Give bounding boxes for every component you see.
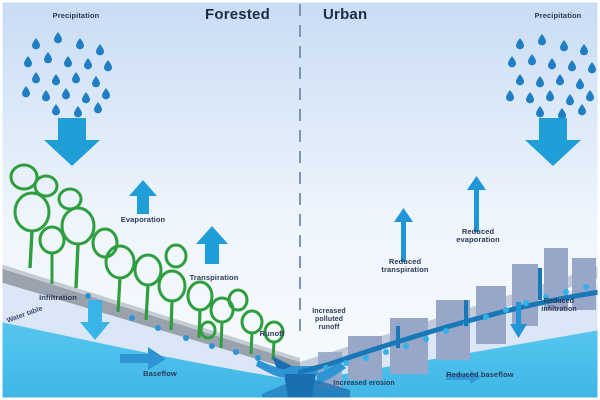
forested-title: Forested [205, 6, 270, 23]
diagram-canvas [0, 0, 600, 400]
hydrology-comparison-diagram: Forested Urban Precipitation Evaporation… [0, 0, 600, 400]
urban-title: Urban [323, 6, 367, 23]
building [512, 264, 538, 326]
building [572, 258, 596, 310]
